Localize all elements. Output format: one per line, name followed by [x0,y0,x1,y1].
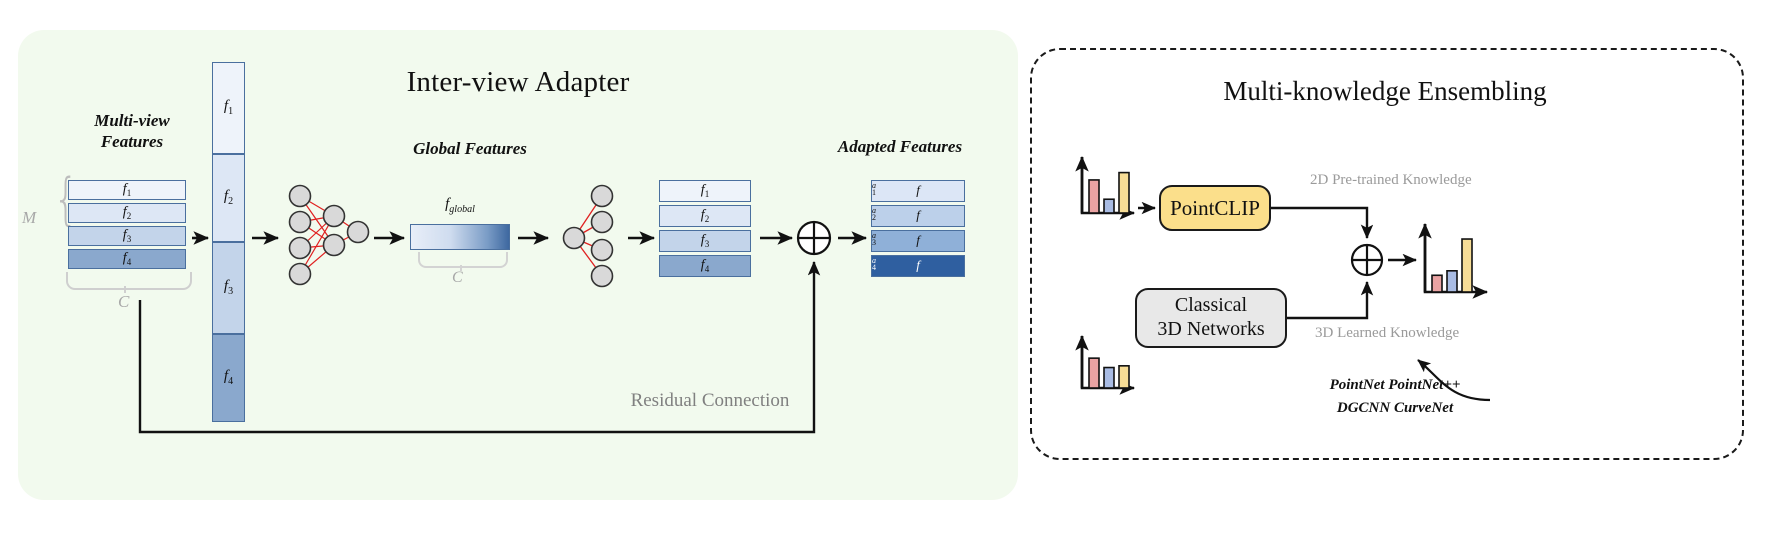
classical-3d-networks-node[interactable]: Classical 3D Networks [1135,288,1287,348]
brace-c [66,272,192,290]
output-row-label: f4 [660,257,750,274]
adapted-row-label: fa4 [872,257,964,273]
residual-connection-label: Residual Connection [580,390,840,412]
global-feature-bar [410,224,510,250]
multiview-label-line1: Multi-view [42,110,222,131]
page-title: Inter-view Adapter [18,66,1018,99]
multiview-row: f3 [68,226,186,246]
network-names-line1: PointNet PointNet++ [1295,374,1495,397]
multiview-row-label: f3 [69,227,185,244]
multiview-row-label: f2 [69,204,185,221]
caption-2d-knowledge: 2D Pre-trained Knowledge [1310,172,1472,189]
adapted-row: fa1 [871,180,965,202]
classical-label-line2: 3D Networks [1157,318,1264,340]
global-feature-symbol: fglobal [410,196,510,215]
adapted-features-label: Adapted Features [790,136,1010,157]
caption-3d-knowledge: 3D Learned Knowledge [1315,325,1459,342]
output-row-label: f3 [660,232,750,249]
adapter-output-stack: f1f2f3f4 [659,180,751,280]
concat-cell-label: f2 [213,188,244,207]
multiview-row: f4 [68,249,186,269]
adapted-feature-stack: fa1fa2fa3fa4 [871,180,965,280]
concat-cell: f2 [212,154,245,242]
global-dimension-label-c: C [452,269,463,287]
network-names-list: PointNet PointNet++ DGCNN CurveNet [1295,374,1495,421]
concat-cell-label: f1 [213,98,244,117]
adapted-row: fa3 [871,230,965,252]
global-f-sub: global [449,204,475,215]
adapted-row-label: fa3 [872,232,964,248]
pointclip-label: PointCLIP [1170,196,1260,221]
global-brace [418,252,508,268]
multiview-features-label: Multi-view Features [42,110,222,153]
global-features-label: Global Features [370,138,570,159]
output-row-label: f1 [660,182,750,199]
mlp-decoder [560,180,622,288]
multiview-row: f2 [68,203,186,223]
concatenated-feature-column: f1f2f3f4 [212,62,245,422]
dimension-label-m: M [22,208,36,228]
multiview-feature-stack: f1f2f3f4 [68,180,186,272]
multiview-row: f1 [68,180,186,200]
adapted-row-label: fa2 [872,207,964,223]
classical-label-line1: Classical [1175,294,1247,316]
multiview-row-label: f4 [69,250,185,267]
pointclip-node[interactable]: PointCLIP [1159,185,1271,231]
concat-cell-label: f3 [213,278,244,297]
concat-cell: f1 [212,62,245,154]
output-row: f4 [659,255,751,277]
adapted-row: fa2 [871,205,965,227]
output-row: f1 [659,180,751,202]
multiview-label-line2: Features [42,131,222,152]
multiview-row-label: f1 [69,181,185,198]
right-panel-title: Multi-knowledge Ensembling [1030,76,1740,107]
mlp-encoder [283,188,363,280]
concat-cell: f3 [212,242,245,334]
dimension-label-c: C [118,292,129,312]
concat-cell-label: f4 [213,368,244,387]
output-row-label: f2 [660,207,750,224]
output-row: f2 [659,205,751,227]
output-row: f3 [659,230,751,252]
classical-label: Classical 3D Networks [1157,294,1264,341]
adapted-row: fa4 [871,255,965,277]
adapted-row-label: fa1 [872,182,964,198]
network-names-line2: DGCNN CurveNet [1295,397,1495,420]
concat-cell: f4 [212,334,245,422]
